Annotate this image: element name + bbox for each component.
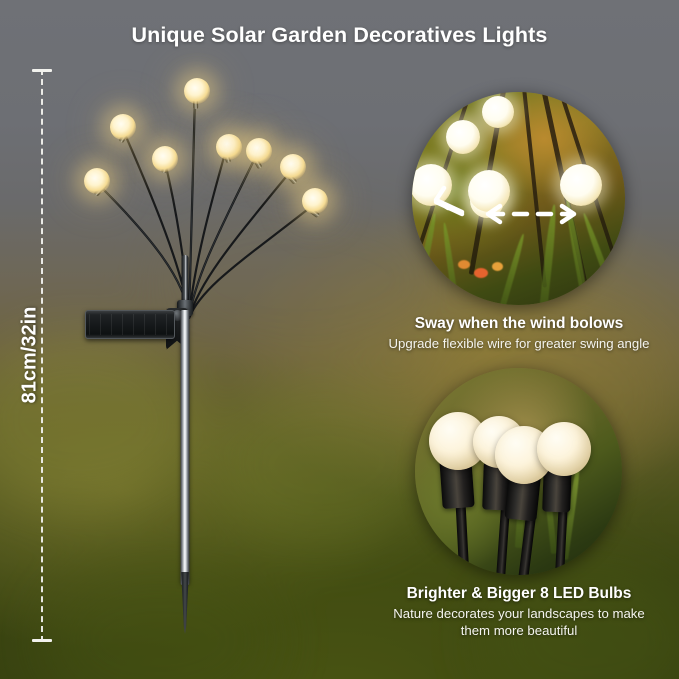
caption-heading: Sway when the wind bolows: [359, 315, 679, 333]
product-illustration: [0, 0, 360, 679]
caption-subtext-line2: them more beautiful: [359, 623, 679, 640]
led-bulb: [302, 188, 328, 214]
led-bulb: [184, 78, 210, 104]
product-infographic: Unique Solar Garden Decoratives Lights 8…: [0, 0, 679, 679]
inset-led-bulbs-photo: [415, 368, 622, 575]
caption-sway: Sway when the wind bolows Upgrade flexib…: [359, 315, 679, 353]
inset-sway-photo: [412, 92, 625, 305]
led-bulb: [216, 134, 242, 160]
caption-bulbs: Brighter & Bigger 8 LED Bulbs Nature dec…: [359, 585, 679, 640]
caption-heading: Brighter & Bigger 8 LED Bulbs: [359, 585, 679, 603]
led-bulb: [84, 168, 110, 194]
solar-panel: [85, 310, 175, 339]
led-bulb: [280, 154, 306, 180]
ground-stake-pole: [181, 310, 190, 585]
led-bulb: [110, 114, 136, 140]
led-bulb: [152, 146, 178, 172]
led-bulb-closeup: [537, 422, 591, 476]
sway-arrow-annotation: [412, 92, 625, 305]
led-bulb: [246, 138, 272, 164]
caption-subtext: Upgrade flexible wire for greater swing …: [359, 336, 679, 353]
caption-subtext-line1: Nature decorates your landscapes to make: [359, 606, 679, 623]
